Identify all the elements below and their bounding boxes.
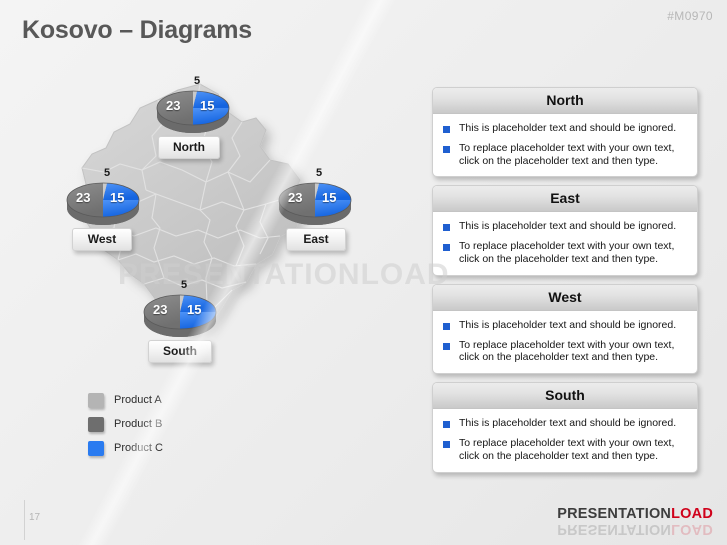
brand-logo-reflection-first: PRESENTATION bbox=[557, 521, 671, 537]
brand-logo-reflection-second: LOAD bbox=[671, 521, 713, 537]
footer-divider bbox=[24, 500, 25, 540]
legend-label: Product B bbox=[114, 418, 162, 430]
legend-label: Product C bbox=[114, 442, 163, 454]
info-box-east[interactable]: East This is placeholder text and should… bbox=[432, 185, 698, 275]
bullet-square-icon bbox=[443, 244, 450, 251]
pie-value-product-a: 5 bbox=[181, 279, 187, 291]
bullet-square-icon bbox=[443, 146, 450, 153]
pie-svg-north bbox=[150, 78, 236, 140]
list-item[interactable]: This is placeholder text and should be i… bbox=[443, 319, 687, 332]
info-box-title: South bbox=[433, 383, 697, 409]
info-box-south[interactable]: South This is placeholder text and shoul… bbox=[432, 382, 698, 472]
pie-value-product-b: 23 bbox=[153, 302, 167, 317]
bullet-text: To replace placeholder text with your ow… bbox=[459, 142, 687, 168]
pie-value-product-a: 5 bbox=[104, 167, 110, 179]
pie-value-product-b: 23 bbox=[288, 190, 302, 205]
page-number: 17 bbox=[29, 512, 40, 523]
pie-svg-east bbox=[272, 170, 358, 232]
bullet-square-icon bbox=[443, 343, 450, 350]
pie-value-product-c: 15 bbox=[110, 190, 124, 205]
bullet-text: This is placeholder text and should be i… bbox=[459, 220, 676, 233]
page-title: Kosovo – Diagrams bbox=[22, 16, 252, 45]
bullet-square-icon bbox=[443, 126, 450, 133]
pie-chart-west[interactable]: 5 23 15 bbox=[60, 170, 146, 232]
region-tag-north[interactable]: North bbox=[158, 136, 220, 159]
region-tag-west[interactable]: West bbox=[72, 228, 132, 251]
region-tag-east[interactable]: East bbox=[286, 228, 346, 251]
bullet-text: To replace placeholder text with your ow… bbox=[459, 240, 687, 266]
pie-value-product-b: 23 bbox=[166, 98, 180, 113]
info-box-body: This is placeholder text and should be i… bbox=[433, 114, 697, 176]
bullet-text: This is placeholder text and should be i… bbox=[459, 122, 676, 135]
list-item[interactable]: To replace placeholder text with your ow… bbox=[443, 437, 687, 463]
brand-logo: PRESENTATIONLOAD bbox=[557, 506, 713, 522]
legend-swatch-icon bbox=[88, 441, 104, 456]
list-item[interactable]: To replace placeholder text with your ow… bbox=[443, 339, 687, 365]
info-box-north[interactable]: North This is placeholder text and shoul… bbox=[432, 87, 698, 177]
pie-value-product-a: 5 bbox=[316, 167, 322, 179]
brand-logo-first: PRESENTATION bbox=[557, 506, 671, 522]
legend-item-product-b[interactable]: Product B bbox=[88, 412, 163, 436]
legend-swatch-icon bbox=[88, 417, 104, 432]
region-detail-panel: North This is placeholder text and shoul… bbox=[432, 87, 698, 481]
info-box-title: East bbox=[433, 186, 697, 212]
pie-value-product-a: 5 bbox=[194, 75, 200, 87]
pie-value-product-c: 15 bbox=[200, 98, 214, 113]
bullet-square-icon bbox=[443, 421, 450, 428]
pie-chart-east[interactable]: 5 23 15 bbox=[272, 170, 358, 232]
info-box-west[interactable]: West This is placeholder text and should… bbox=[432, 284, 698, 374]
bullet-text: This is placeholder text and should be i… bbox=[459, 319, 676, 332]
bullet-text: To replace placeholder text with your ow… bbox=[459, 339, 687, 365]
pie-svg-south bbox=[137, 282, 223, 344]
list-item[interactable]: This is placeholder text and should be i… bbox=[443, 122, 687, 135]
info-box-body: This is placeholder text and should be i… bbox=[433, 311, 697, 373]
bullet-square-icon bbox=[443, 441, 450, 448]
info-box-title: North bbox=[433, 88, 697, 114]
info-box-body: This is placeholder text and should be i… bbox=[433, 212, 697, 274]
brand-logo-second: LOAD bbox=[671, 506, 713, 522]
region-tag-south[interactable]: South bbox=[148, 340, 212, 363]
bullet-text: To replace placeholder text with your ow… bbox=[459, 437, 687, 463]
chart-legend: Product A Product B Product C bbox=[88, 388, 163, 460]
bullet-square-icon bbox=[443, 224, 450, 231]
brand-logo-reflection: PRESENTATIONLOAD bbox=[557, 521, 713, 537]
legend-label: Product A bbox=[114, 394, 162, 406]
list-item[interactable]: This is placeholder text and should be i… bbox=[443, 417, 687, 430]
list-item[interactable]: This is placeholder text and should be i… bbox=[443, 220, 687, 233]
bullet-square-icon bbox=[443, 323, 450, 330]
list-item[interactable]: To replace placeholder text with your ow… bbox=[443, 240, 687, 266]
info-box-title: West bbox=[433, 285, 697, 311]
pie-value-product-b: 23 bbox=[76, 190, 90, 205]
bullet-text: This is placeholder text and should be i… bbox=[459, 417, 676, 430]
pie-chart-south[interactable]: 5 23 15 bbox=[137, 282, 223, 344]
pie-value-product-c: 15 bbox=[187, 302, 201, 317]
legend-item-product-a[interactable]: Product A bbox=[88, 388, 163, 412]
pie-svg-west bbox=[60, 170, 146, 232]
legend-swatch-icon bbox=[88, 393, 104, 408]
legend-item-product-c[interactable]: Product C bbox=[88, 436, 163, 460]
pie-chart-north[interactable]: 5 23 15 bbox=[150, 78, 236, 140]
document-code: #M0970 bbox=[667, 9, 713, 23]
list-item[interactable]: To replace placeholder text with your ow… bbox=[443, 142, 687, 168]
kosovo-map-panel: PRESENTATIONLOAD bbox=[0, 60, 425, 390]
info-box-body: This is placeholder text and should be i… bbox=[433, 409, 697, 471]
pie-value-product-c: 15 bbox=[322, 190, 336, 205]
